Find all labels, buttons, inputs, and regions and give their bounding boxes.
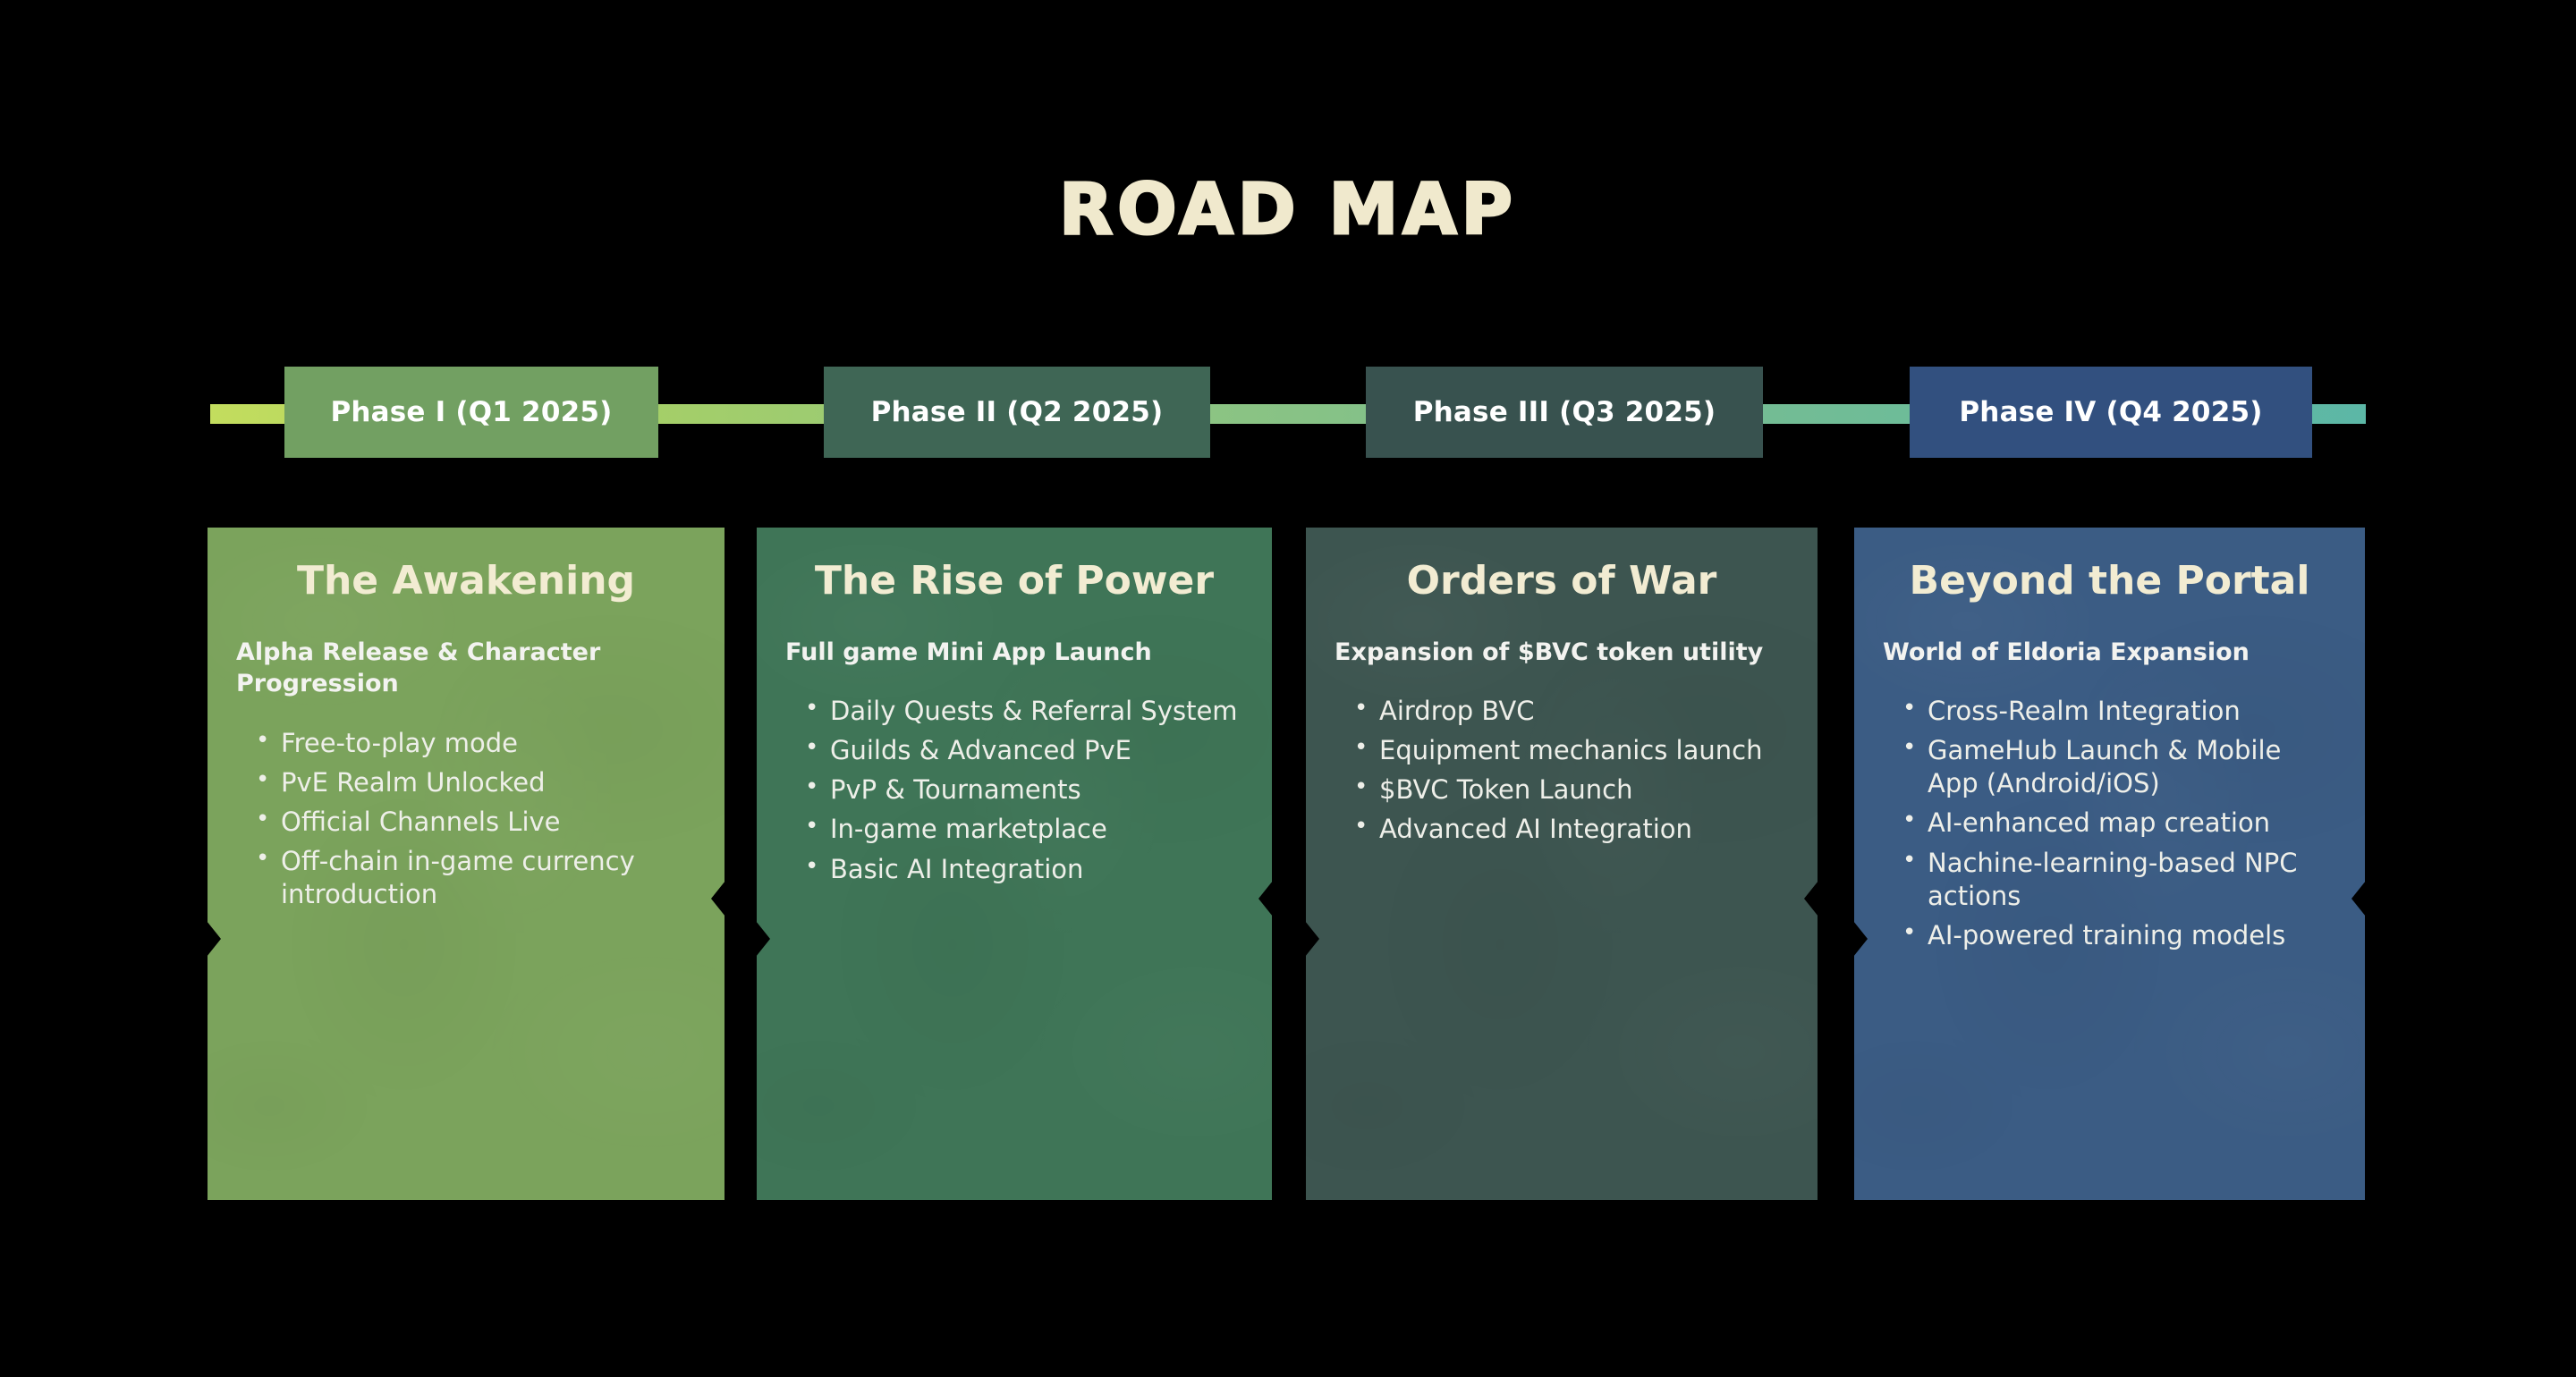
card-bullet-item: Daily Quests & Referral System <box>785 695 1243 728</box>
card-bullet-item: Official Channels Live <box>236 806 696 839</box>
card-edge-notch-left <box>208 921 221 957</box>
card-bullet-item: AI-enhanced map creation <box>1883 807 2336 840</box>
phase-marker-label: Phase III (Q3 2025) <box>1413 396 1716 428</box>
phase-card-3[interactable]: Orders of WarExpansion of $BVC token uti… <box>1306 528 1818 1200</box>
card-bullet-item: $BVC Token Launch <box>1335 773 1789 807</box>
card-subtitle: Full game Mini App Launch <box>785 637 1243 669</box>
card-bullet-item: Off-chain in-game currency introduction <box>236 845 696 911</box>
phase-marker-1[interactable]: Phase I (Q1 2025) <box>284 367 658 458</box>
card-edge-notch-right <box>711 881 724 917</box>
card-bullet-list: Airdrop BVC Equipment mechanics launch$B… <box>1335 695 1789 846</box>
card-content: The AwakeningAlpha Release & Character P… <box>236 560 696 911</box>
card-edge-notch-right <box>1804 881 1818 917</box>
card-content: The Rise of PowerFull game Mini App Laun… <box>785 560 1243 886</box>
roadmap-canvas: ROAD MAP Phase I (Q1 2025)Phase II (Q2 2… <box>0 0 2576 1377</box>
card-bullet-item: Free-to-play mode <box>236 727 696 760</box>
card-bullet-item: In-game marketplace <box>785 813 1243 846</box>
card-title: The Rise of Power <box>785 560 1243 603</box>
card-edge-notch-left <box>757 921 770 957</box>
card-title: Orders of War <box>1335 560 1789 603</box>
phase-card-4[interactable]: Beyond the PortalWorld of Eldoria Expans… <box>1854 528 2365 1200</box>
card-title: The Awakening <box>236 560 696 603</box>
card-title: Beyond the Portal <box>1883 560 2336 603</box>
phase-marker-4[interactable]: Phase IV (Q4 2025) <box>1910 367 2312 458</box>
card-edge-notch-left <box>1306 921 1319 957</box>
phase-card-1[interactable]: The AwakeningAlpha Release & Character P… <box>208 528 724 1200</box>
card-bullet-item: Airdrop BVC <box>1335 695 1789 728</box>
card-bullet-item: GameHub Launch & Mobile App (Android/iOS… <box>1883 734 2336 800</box>
phase-marker-3[interactable]: Phase III (Q3 2025) <box>1366 367 1763 458</box>
card-bullet-item: Guilds & Advanced PvE <box>785 734 1243 767</box>
card-content: Beyond the PortalWorld of Eldoria Expans… <box>1883 560 2336 952</box>
card-bullet-item: Advanced AI Integration <box>1335 813 1789 846</box>
phase-marker-2[interactable]: Phase II (Q2 2025) <box>824 367 1210 458</box>
card-bullet-item: PvE Realm Unlocked <box>236 766 696 799</box>
phase-marker-label: Phase II (Q2 2025) <box>871 396 1164 428</box>
phase-card-2[interactable]: The Rise of PowerFull game Mini App Laun… <box>757 528 1272 1200</box>
card-bullet-item: Nachine-learning-based NPC actions <box>1883 847 2336 913</box>
card-edge-notch-right <box>2351 881 2365 917</box>
phase-marker-label: Phase I (Q1 2025) <box>330 396 612 428</box>
card-bullet-item: Equipment mechanics launch <box>1335 734 1789 767</box>
page-title: ROAD MAP <box>0 175 2576 245</box>
card-bullet-item: Basic AI Integration <box>785 853 1243 886</box>
card-subtitle: Expansion of $BVC token utility <box>1335 637 1789 669</box>
card-bullet-item: PvP & Tournaments <box>785 773 1243 807</box>
card-content: Orders of WarExpansion of $BVC token uti… <box>1335 560 1789 847</box>
card-subtitle: World of Eldoria Expansion <box>1883 637 2336 669</box>
card-edge-notch-right <box>1258 881 1272 917</box>
card-subtitle: Alpha Release & Character Progression <box>236 637 696 700</box>
card-edge-notch-left <box>1854 921 1868 957</box>
card-bullet-list: Cross-Realm IntegrationGameHub Launch & … <box>1883 695 2336 952</box>
card-bullet-item: Cross-Realm Integration <box>1883 695 2336 728</box>
card-bullet-item: AI-powered training models <box>1883 919 2336 952</box>
phase-marker-label: Phase IV (Q4 2025) <box>1959 396 2262 428</box>
card-bullet-list: Daily Quests & Referral SystemGuilds & A… <box>785 695 1243 886</box>
card-bullet-list: Free-to-play modePvE Realm UnlockedOffic… <box>236 727 696 912</box>
